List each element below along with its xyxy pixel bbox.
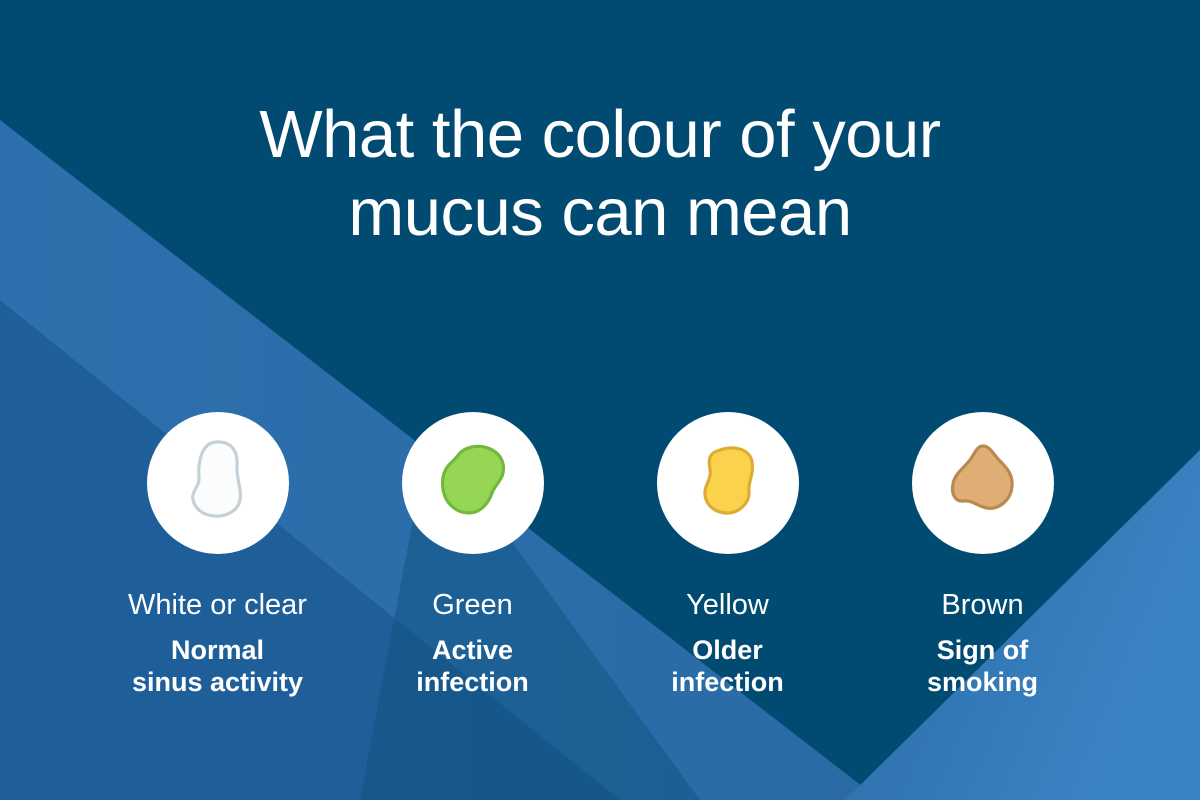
meaning-yellow-line-2: infection — [671, 667, 784, 699]
meaning-green: Active infection — [416, 635, 529, 699]
colour-label-brown: Brown — [941, 590, 1023, 622]
colour-label-white: White or clear — [128, 590, 307, 622]
mucus-blob-yellow-icon — [676, 431, 780, 535]
colour-card-yellow: Yellow Older infection — [600, 412, 855, 699]
meaning-green-line-2: infection — [416, 667, 529, 699]
colour-card-white: White or clear Normal sinus activity — [90, 412, 345, 699]
meaning-green-line-1: Active — [416, 635, 529, 667]
colour-label-green: Green — [432, 590, 513, 622]
icon-disc-yellow — [657, 412, 799, 554]
mucus-blob-brown-icon — [931, 431, 1035, 535]
meaning-brown-line-1: Sign of — [927, 635, 1038, 667]
title-line-1: What the colour of your — [60, 96, 1140, 174]
colour-card-brown: Brown Sign of smoking — [855, 412, 1110, 699]
meaning-brown: Sign of smoking — [927, 635, 1038, 699]
icon-disc-green — [402, 412, 544, 554]
colour-card-green: Green Active infection — [345, 412, 600, 699]
infographic-poster: What the colour of your mucus can mean W… — [0, 0, 1200, 800]
mucus-colour-cards: White or clear Normal sinus activity Gre… — [0, 412, 1200, 699]
mucus-blob-white-icon — [166, 431, 270, 535]
meaning-white: Normal sinus activity — [132, 635, 303, 699]
title-line-2: mucus can mean — [60, 174, 1140, 252]
colour-label-yellow: Yellow — [686, 590, 769, 622]
icon-disc-brown — [912, 412, 1054, 554]
mucus-blob-green-icon — [421, 431, 525, 535]
icon-disc-white — [147, 412, 289, 554]
meaning-white-line-1: Normal — [132, 635, 303, 667]
meaning-white-line-2: sinus activity — [132, 667, 303, 699]
meaning-yellow: Older infection — [671, 635, 784, 699]
meaning-brown-line-2: smoking — [927, 667, 1038, 699]
poster-title: What the colour of your mucus can mean — [0, 96, 1200, 253]
meaning-yellow-line-1: Older — [671, 635, 784, 667]
